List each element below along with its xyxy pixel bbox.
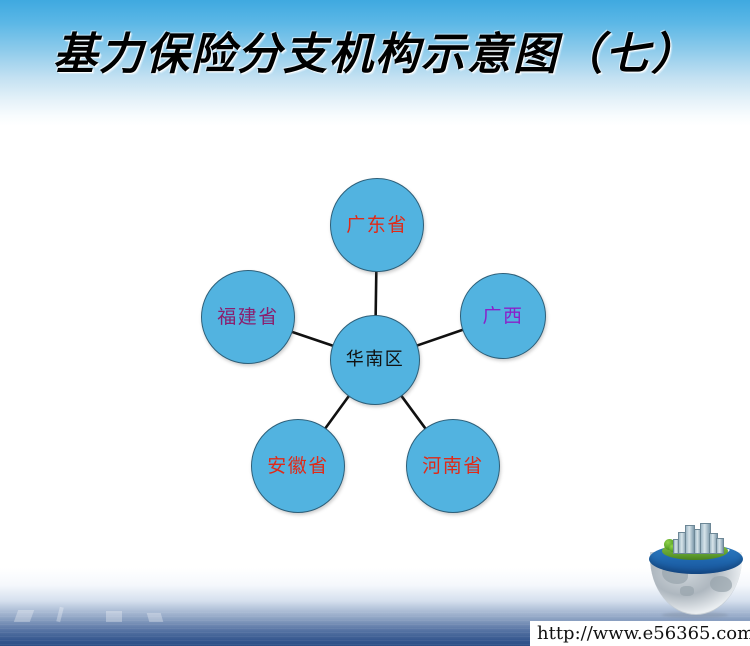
diagram-edge: [325, 396, 349, 429]
diagram-edge: [401, 395, 426, 429]
globe-landmass: [710, 576, 732, 592]
diagram-edge: [376, 271, 377, 316]
diagram-node-fujian[interactable]: 福建省: [201, 270, 295, 364]
watermark-url-text: http://www.e56365.com: [537, 623, 750, 644]
diagram-node-guangxi[interactable]: 广西: [460, 273, 546, 359]
diagram-node-guangdong[interactable]: 广东省: [330, 178, 424, 272]
diagram-node-label: 福建省: [217, 308, 279, 327]
diagram-node-label: 广东省: [346, 216, 408, 235]
diagram-node-henan[interactable]: 河南省: [406, 419, 500, 513]
diagram-node-anhui[interactable]: 安徽省: [251, 419, 345, 513]
diagram-node-label: 华南区: [346, 351, 405, 369]
slide-canvas: 基力保险分支机构示意图（七） 华南区广东省广西福建省安徽省河南省: [0, 0, 750, 646]
watermark-url-box: http://www.e56365.com: [530, 621, 750, 646]
diagram-node-label: 河南省: [422, 457, 484, 476]
globe-landmass: [680, 586, 694, 596]
diagram-node-label: 安徽省: [267, 457, 329, 476]
diagram-edge: [292, 332, 334, 346]
diagram-node-huanan[interactable]: 华南区: [330, 315, 420, 405]
building-icon: [716, 538, 724, 554]
diagram-node-label: 广西: [482, 307, 523, 326]
diagram-edge: [417, 330, 464, 346]
globe-city-icon: [648, 522, 744, 618]
org-diagram: 华南区广东省广西福建省安徽省河南省: [0, 0, 750, 646]
